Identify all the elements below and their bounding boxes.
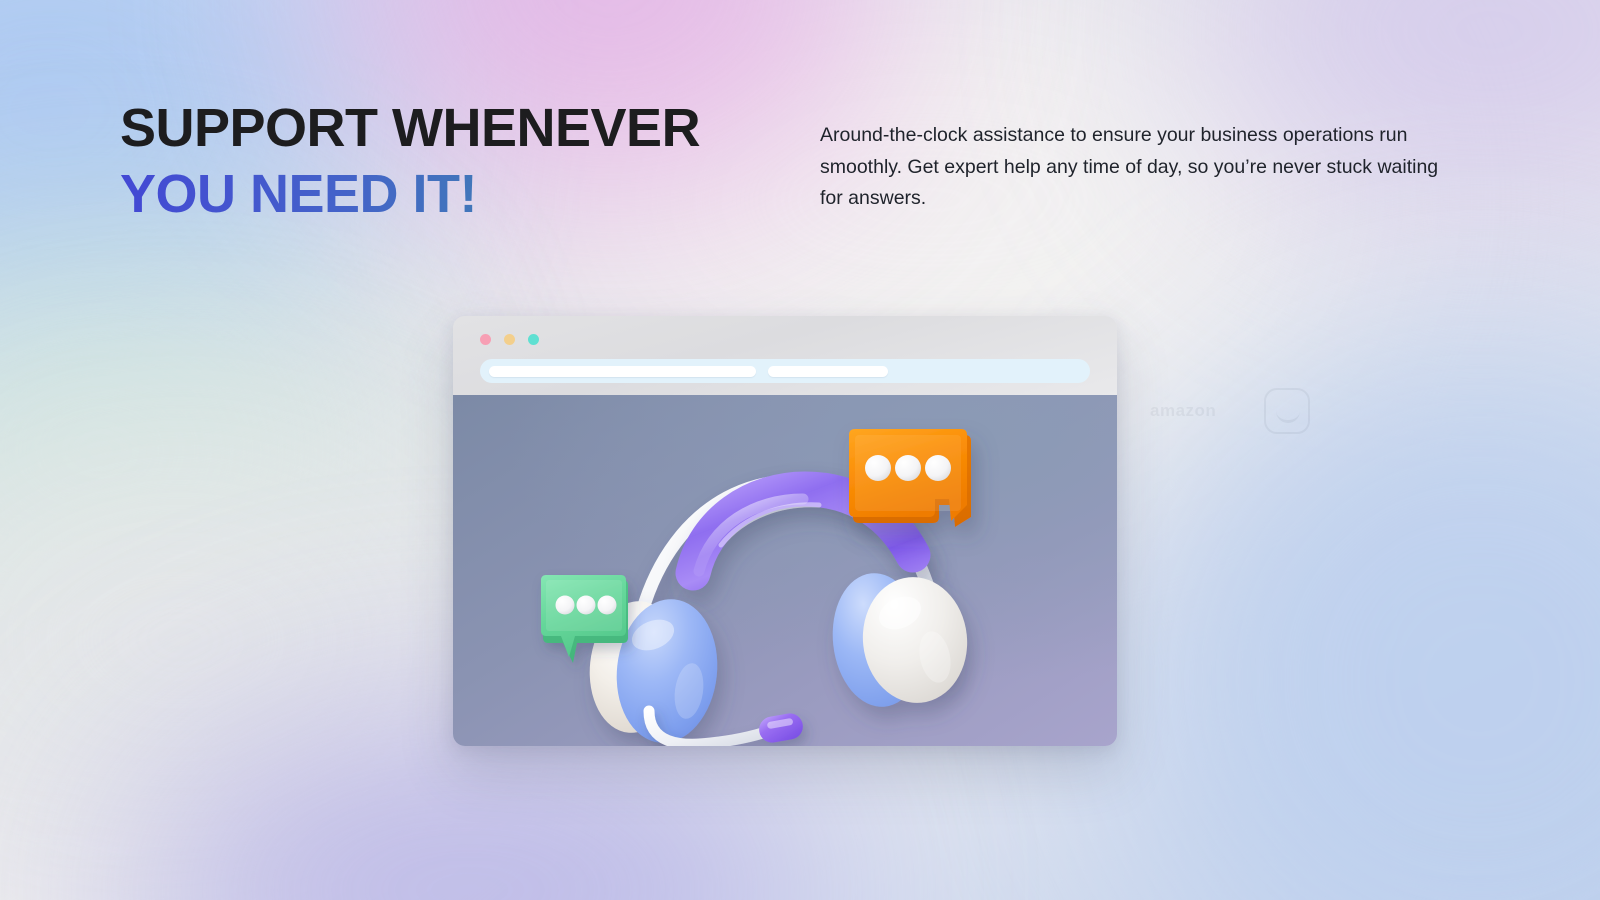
page-root: SUPPORT WHENEVER YOU NEED IT! Around-the… xyxy=(0,0,1600,900)
watermark: amazon xyxy=(1150,388,1310,434)
headline-line-1: SUPPORT WHENEVER xyxy=(120,96,820,162)
address-bar-pill-primary xyxy=(489,366,756,377)
microphone-tip xyxy=(757,711,805,744)
maximize-button-icon[interactable] xyxy=(528,334,539,345)
bubble-dot xyxy=(556,596,575,615)
minimize-button-icon[interactable] xyxy=(504,334,515,345)
traffic-lights xyxy=(480,334,539,345)
bubble-dot xyxy=(865,455,891,481)
window-screen xyxy=(453,395,1117,746)
watermark-label: amazon xyxy=(1150,401,1216,421)
bubble-dot xyxy=(577,596,596,615)
page-title: SUPPORT WHENEVER YOU NEED IT! xyxy=(120,96,820,228)
browser-window-mockup xyxy=(453,316,1117,746)
amazon-smile-logo-icon xyxy=(1264,388,1310,434)
chat-bubble-orange xyxy=(849,429,971,527)
lede-paragraph: Around-the-clock assistance to ensure yo… xyxy=(820,120,1445,215)
window-chrome xyxy=(453,316,1117,395)
headset-earcup-right xyxy=(826,569,973,712)
bubble-dot xyxy=(925,455,951,481)
address-bar[interactable] xyxy=(480,359,1090,383)
address-bar-pill-secondary xyxy=(768,366,888,377)
bubble-dot xyxy=(895,455,921,481)
bubble-dot xyxy=(598,596,617,615)
3d-support-headset-illustration xyxy=(453,395,1117,746)
headline-line-2: YOU NEED IT! xyxy=(120,162,820,228)
close-button-icon[interactable] xyxy=(480,334,491,345)
